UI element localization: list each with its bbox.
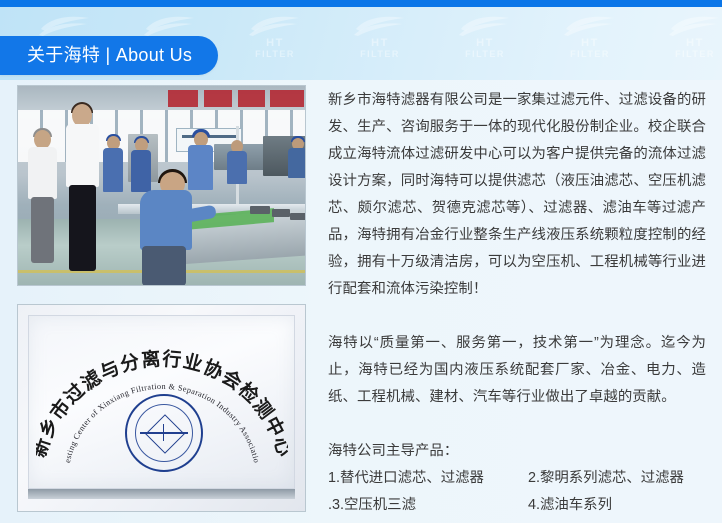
person-shirt bbox=[28, 147, 57, 199]
main-products-block: 海特公司主导产品： 1.替代进口滤芯、过滤器 2.黎明系列滤芯、过滤器 .3.空… bbox=[328, 438, 706, 523]
photo-column: 新乡市过滤与分离行业协会检测中心 Testing Center of Xinxi… bbox=[17, 85, 306, 512]
plaque-photo-scene: 新乡市过滤与分离行业协会检测中心 Testing Center of Xinxi… bbox=[18, 305, 305, 511]
person-shirt bbox=[66, 124, 99, 187]
plaque-board: 新乡市过滤与分离行业协会检测中心 Testing Center of Xinxi… bbox=[28, 315, 295, 489]
page-content: 新乡市过滤与分离行业协会检测中心 Testing Center of Xinxi… bbox=[0, 80, 722, 523]
plaque-base-shadow bbox=[28, 489, 295, 499]
person-trousers bbox=[31, 197, 54, 263]
workshop-part bbox=[250, 206, 270, 214]
workshop-banner bbox=[270, 90, 304, 107]
background-worker bbox=[226, 140, 248, 184]
product-item: 2.黎明系列滤芯、过滤器 bbox=[528, 465, 706, 492]
factory-photo-scene bbox=[18, 86, 305, 285]
about-us-page: HTFILTERHTFILTERHTFILTERHTFILTERHTFILTER… bbox=[0, 0, 722, 523]
page-header: HTFILTERHTFILTERHTFILTERHTFILTERHTFILTER… bbox=[0, 0, 722, 80]
person-trousers bbox=[69, 185, 96, 271]
about-paragraph-2: 海特以“质量第一、服务第一，技术第一”为理念。迄今为止，海特已经为国内液压系统配… bbox=[328, 330, 706, 411]
product-item: 1.替代进口滤芯、过滤器 bbox=[328, 465, 528, 492]
product-row: 1.替代进口滤芯、过滤器 2.黎明系列滤芯、过滤器 bbox=[328, 465, 706, 492]
product-item: 4.滤油车系列 bbox=[528, 492, 706, 519]
product-item: .3.空压机三滤 bbox=[328, 492, 528, 519]
product-row: 5. 精密滤芯系列 7.液压附件系列 bbox=[328, 519, 706, 523]
background-worker bbox=[102, 136, 124, 194]
workshop-banner bbox=[204, 90, 232, 107]
workshop-banner bbox=[238, 90, 265, 107]
worker-body bbox=[103, 148, 123, 192]
workshop-part bbox=[272, 209, 290, 217]
background-worker bbox=[288, 138, 306, 178]
workshop-banner bbox=[168, 90, 198, 107]
workshop-part bbox=[290, 213, 306, 220]
main-products-heading: 海特公司主导产品： bbox=[328, 438, 706, 465]
plaque-photo: 新乡市过滤与分离行业协会检测中心 Testing Center of Xinxi… bbox=[17, 304, 306, 512]
product-row: .3.空压机三滤 4.滤油车系列 bbox=[328, 492, 706, 519]
foreground-person bbox=[63, 104, 103, 274]
worker-body bbox=[288, 148, 306, 178]
visitor-person bbox=[26, 130, 60, 266]
seal-diamond bbox=[145, 414, 185, 454]
section-title-pill[interactable]: 关于海特 | About Us bbox=[0, 36, 218, 75]
worker-body bbox=[227, 151, 247, 184]
product-item: 7.液压附件系列 bbox=[528, 519, 706, 523]
association-seal-icon bbox=[125, 394, 203, 472]
seated-worker bbox=[138, 172, 200, 284]
person-trousers bbox=[142, 246, 186, 286]
about-paragraph-1: 新乡市海特滤器有限公司是一家集过滤元件、过滤设备的研发、生产、咨询服务于一体的现… bbox=[328, 87, 706, 303]
page-title: 关于海特 | About Us bbox=[27, 46, 192, 65]
header-top-rule bbox=[0, 0, 722, 7]
about-text-column: 新乡市海特滤器有限公司是一家集过滤元件、过滤设备的研发、生产、咨询服务于一体的现… bbox=[328, 87, 706, 523]
product-item: 5. 精密滤芯系列 bbox=[328, 519, 528, 523]
factory-photo bbox=[17, 85, 306, 286]
